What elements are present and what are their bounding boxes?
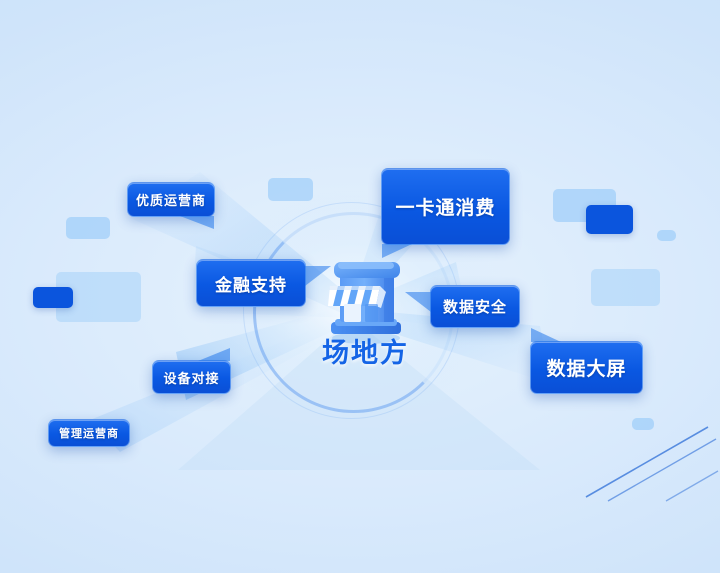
- card-youzhi-label: 优质运营商: [136, 190, 206, 209]
- card-jinrong[interactable]: 金融支持: [196, 259, 306, 307]
- card-dapin[interactable]: 数据大屏: [530, 341, 643, 394]
- deco-left-solid: [33, 287, 73, 308]
- card-dapin-tail: [531, 328, 561, 342]
- card-shebei[interactable]: 设备对接: [152, 360, 231, 394]
- card-guanli-label: 管理运营商: [59, 425, 119, 441]
- card-jinrong-label: 金融支持: [215, 271, 287, 296]
- infographic-canvas: 场地方 一卡通消费金融支持优质运营商设备对接管理运营商数据安全数据大屏: [0, 0, 720, 573]
- deco-left-small-light: [66, 217, 110, 239]
- store-icon: [318, 248, 414, 344]
- deco-mid-light: [268, 178, 313, 201]
- deco-right-solid: [586, 205, 633, 234]
- corner-diagonal-lines: [580, 413, 720, 503]
- card-yikatong-label: 一卡通消费: [395, 193, 495, 220]
- center-label: 场地方: [293, 331, 438, 370]
- card-youzhi[interactable]: 优质运营商: [127, 182, 215, 217]
- card-guanli[interactable]: 管理运营商: [48, 419, 130, 447]
- card-jinrong-tail: [305, 266, 331, 286]
- card-shebei-tail: [198, 348, 230, 361]
- card-anquan-tail: [405, 292, 431, 312]
- card-yikatong[interactable]: 一卡通消费: [381, 168, 510, 245]
- card-dapin-label: 数据大屏: [546, 354, 626, 381]
- deco-right-small-light: [657, 230, 676, 241]
- card-youzhi-tail: [180, 216, 214, 229]
- card-yikatong-tail: [382, 244, 412, 258]
- deco-right-light-b: [591, 269, 660, 306]
- card-anquan-label: 数据安全: [443, 296, 507, 317]
- card-anquan[interactable]: 数据安全: [430, 285, 520, 328]
- card-shebei-label: 设备对接: [163, 368, 219, 387]
